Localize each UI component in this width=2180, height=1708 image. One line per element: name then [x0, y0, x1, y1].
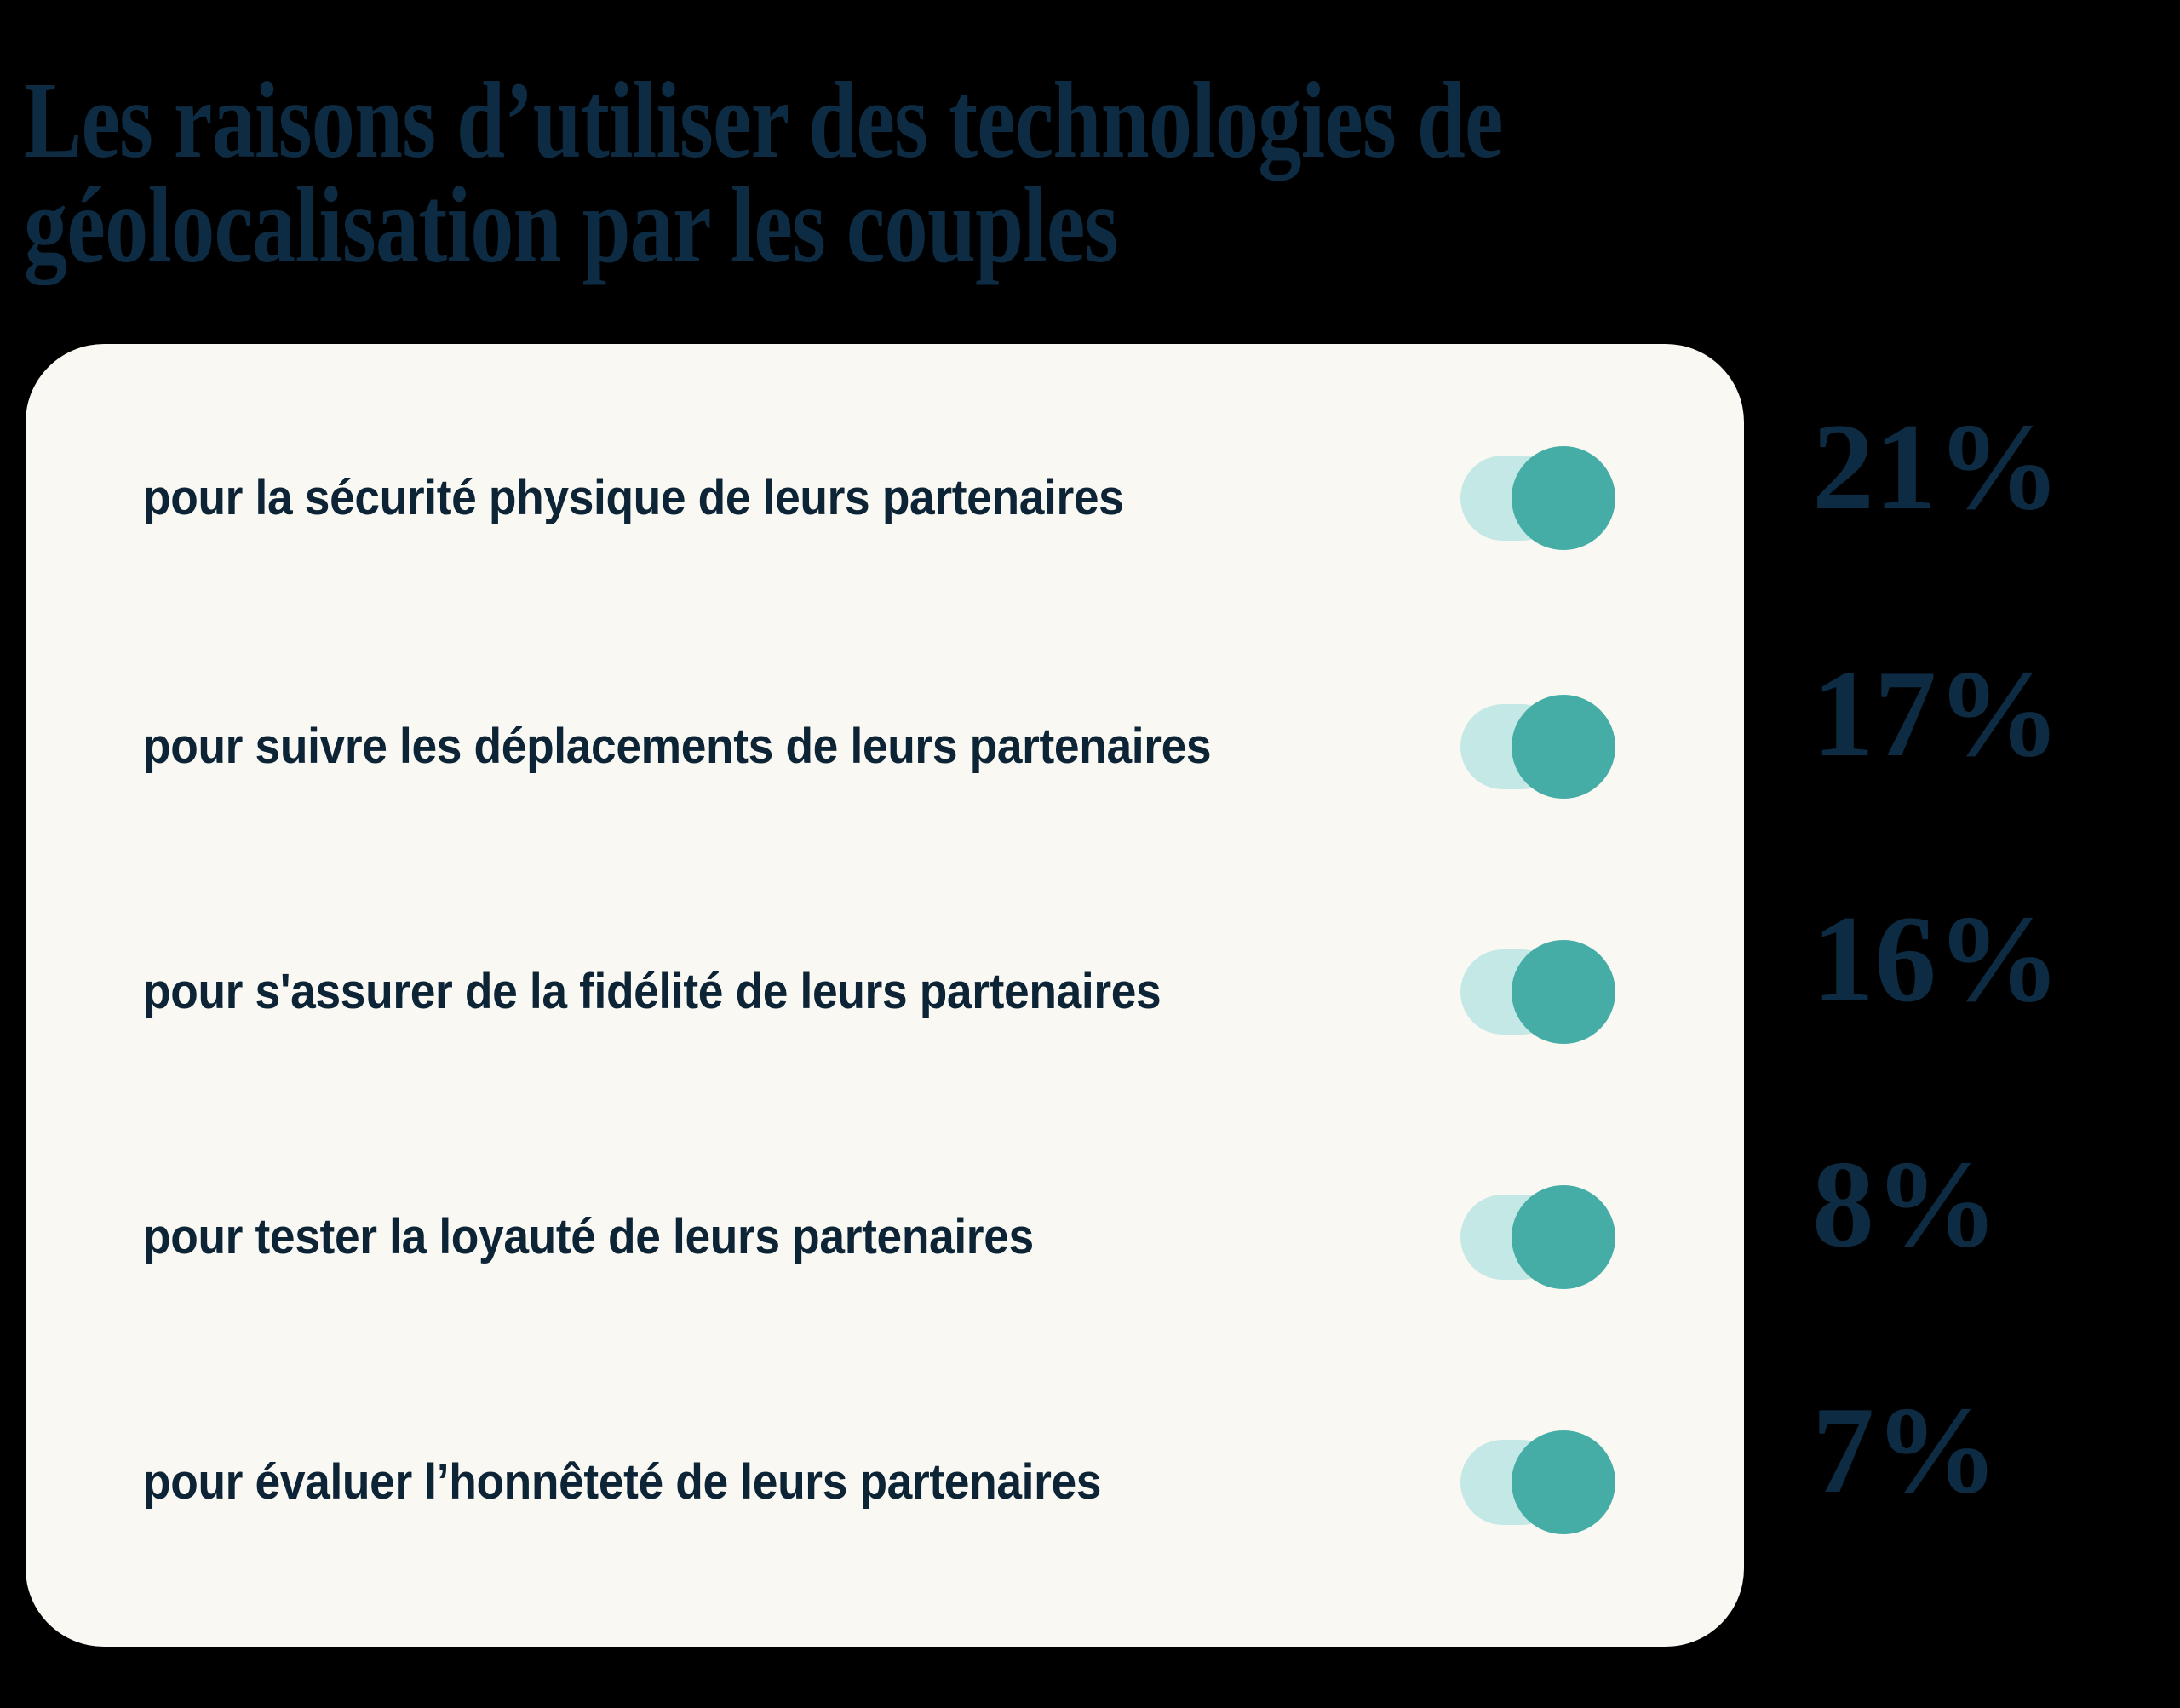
toggle-knob-icon	[1512, 695, 1615, 799]
toggle-knob-icon	[1512, 446, 1615, 550]
list-item: pour évaluer l’honnêteté de leurs parten…	[26, 1410, 1744, 1555]
toggle-row-1[interactable]	[1460, 446, 1615, 550]
toggle-knob-icon	[1512, 940, 1615, 1044]
page-title: Les raisons d’utiliser des technologies …	[24, 68, 1659, 278]
percentage-value: 21%	[1812, 404, 2061, 529]
infographic-page: Les raisons d’utiliser des technologies …	[0, 0, 2180, 1708]
list-item: pour tester la loyauté de leurs partenai…	[26, 1165, 1744, 1310]
toggle-knob-icon	[1512, 1430, 1615, 1534]
reason-label: pour évaluer l’honnêteté de leurs parten…	[143, 1453, 1240, 1511]
list-item: pour la sécurité physique de leurs parte…	[26, 426, 1744, 570]
toggle-knob-icon	[1512, 1185, 1615, 1289]
percentage-value: 7%	[1812, 1388, 1999, 1512]
reasons-list: pour la sécurité physique de leurs parte…	[26, 344, 1744, 1647]
reason-label: pour tester la loyauté de leurs partenai…	[143, 1208, 1240, 1266]
toggle-row-3[interactable]	[1460, 940, 1615, 1044]
reasons-card: pour la sécurité physique de leurs parte…	[26, 344, 1744, 1647]
percentage-value: 17%	[1812, 651, 2061, 776]
percentage-value: 16%	[1812, 897, 2061, 1021]
list-item: pour s'assurer de la fidélité de leurs p…	[26, 920, 1744, 1064]
reason-label: pour suivre les déplacements de leurs pa…	[143, 718, 1240, 776]
toggle-row-4[interactable]	[1460, 1185, 1615, 1289]
list-item: pour suivre les déplacements de leurs pa…	[26, 674, 1744, 819]
toggle-row-2[interactable]	[1460, 695, 1615, 799]
percentage-value: 8%	[1812, 1142, 1999, 1266]
toggle-row-5[interactable]	[1460, 1430, 1615, 1534]
reason-label: pour la sécurité physique de leurs parte…	[143, 469, 1240, 527]
reason-label: pour s'assurer de la fidélité de leurs p…	[143, 963, 1240, 1021]
